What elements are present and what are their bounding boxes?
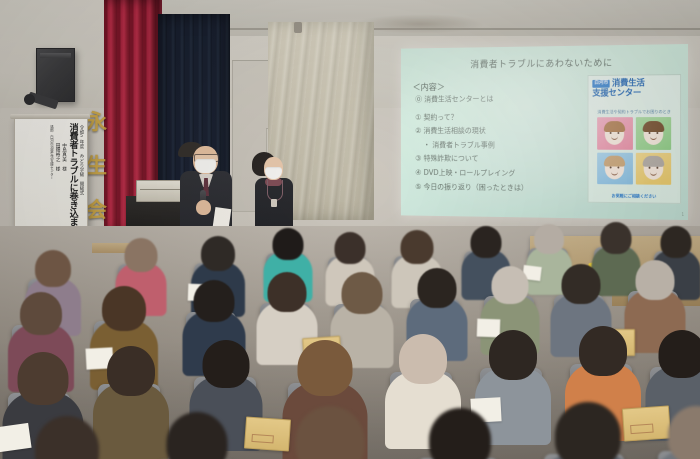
- audience-head: [661, 226, 692, 258]
- hair-shape: [604, 156, 625, 167]
- item-text: DVD上映・ロールプレイング: [424, 168, 516, 177]
- seminar-photo-scene: 永 生 会 令和5年度 みどり学級 開級式 消費者トラブルに巻き込まれないために…: [0, 0, 700, 459]
- hair-shape: [642, 156, 664, 167]
- audience-head: [167, 412, 228, 459]
- audience-member: [158, 412, 236, 459]
- item-text: 消費生活センターとは: [424, 94, 493, 103]
- audience-head: [298, 340, 353, 396]
- face-illustration-icon: [643, 123, 663, 145]
- audience-member: [26, 416, 108, 459]
- speaker-mount-knob: [24, 94, 35, 105]
- face-illustration-icon: [605, 123, 624, 145]
- slide-list-subitem: ・ 消費者トラブル事例: [415, 141, 567, 149]
- slide-page-number: 1: [682, 212, 685, 217]
- item-text: 契約って？: [424, 112, 458, 121]
- slide-list-item: ③ 特殊詐欺について: [415, 155, 567, 163]
- poster-title-line2: 支援センター: [592, 88, 641, 98]
- slide-list-item: ⓪ 消費生活センターとは: [415, 95, 567, 103]
- slide-content-list: ⓪ 消費生活センターとは ① 契約って？ ② 消費生活相談の現状 ・ 消費者トラ…: [415, 95, 567, 199]
- audience-head: [335, 232, 366, 264]
- banner-speaker-name-1: 中島真美 様: [61, 143, 66, 223]
- banner-main-title: 消費者トラブルに巻き込まれないために: [68, 123, 77, 223]
- audience-member: [286, 406, 374, 459]
- audience-head: [492, 266, 529, 304]
- banner-header-text: 令和5年度 みどり学級 開級式: [79, 125, 83, 223]
- poster-face-tile: [597, 117, 632, 149]
- hair-shape: [604, 121, 625, 132]
- gold-character-1: 永: [86, 106, 107, 136]
- slide-content-heading: ＜内容＞: [413, 80, 445, 93]
- audience-head: [201, 236, 235, 271]
- item-marker: ③: [415, 154, 421, 163]
- poster-city-badge: 白河市: [592, 80, 610, 88]
- eye-right: [656, 132, 658, 134]
- eye-left: [648, 132, 650, 134]
- audience-head: [125, 238, 158, 272]
- audience-member: [546, 402, 630, 459]
- smile-shape: [611, 136, 618, 140]
- slide-list-item: ② 消費生活相談の現状: [415, 127, 567, 134]
- audience-head: [296, 406, 365, 459]
- audience-head: [579, 326, 627, 376]
- item-text: 消費生活相談の現状: [424, 126, 486, 135]
- eye-right: [656, 167, 658, 169]
- eye-left: [648, 167, 650, 169]
- audience-head: [418, 268, 457, 308]
- manila-envelope: [244, 416, 291, 451]
- curtain-hook-icon: [294, 22, 302, 33]
- poster-face-tile: [635, 117, 671, 149]
- audience-head: [429, 408, 491, 459]
- audience-head: [489, 330, 537, 380]
- presenter-hand: [196, 200, 211, 215]
- lanyard-icon: [267, 180, 283, 201]
- poster-title: 白河市消費生活 支援センター: [592, 79, 676, 99]
- wall-speaker-icon: [36, 48, 75, 102]
- id-badge: [271, 199, 277, 207]
- audience-head: [668, 406, 700, 459]
- item-marker: ⑤: [415, 182, 421, 191]
- eye-right: [618, 132, 620, 134]
- audience-head: [471, 226, 502, 258]
- audience-head: [401, 230, 434, 264]
- smile-shape: [650, 136, 657, 140]
- slide-title: 消費者トラブルにあわないために: [401, 54, 688, 71]
- gold-character-3: 会: [86, 194, 107, 224]
- slide-list-item: ① 契約って？: [415, 113, 567, 121]
- audience-head: [268, 272, 307, 312]
- poster-face-grid: [597, 117, 671, 185]
- audience-head: [273, 228, 304, 260]
- eye-right: [618, 167, 620, 169]
- projection-screen: 消費者トラブルにあわないために ＜内容＞ ⓪ 消費生活センターとは ① 契約って…: [401, 44, 688, 220]
- audience-member: [100, 346, 162, 459]
- poster-subtitle: 消費生活や契約トラブルでお困りのとき: [592, 109, 676, 115]
- audience-head: [35, 416, 99, 459]
- audience-head: [601, 222, 632, 254]
- slide-list-item: ⑤ 今日の振り返り（困ったときは）: [415, 183, 567, 192]
- consumer-center-poster: 白河市消費生活 支援センター 消費生活や契約トラブルでお困りのとき: [588, 74, 682, 204]
- audience-head: [399, 334, 447, 384]
- face-illustration-icon: [643, 158, 663, 180]
- item-marker: ④: [415, 168, 421, 177]
- item-text: 今日の振り返り（困ったときは）: [424, 182, 529, 192]
- eye-left: [610, 132, 612, 134]
- audience-head: [636, 260, 675, 300]
- face-illustration-icon: [605, 158, 624, 180]
- item-marker: ①: [415, 113, 421, 122]
- eye-left: [610, 167, 612, 169]
- banner-speaker-name-2: 田畑裕之 様: [54, 143, 59, 223]
- face-mask-icon: [195, 159, 216, 173]
- audience-head: [562, 264, 601, 304]
- smile-shape: [611, 171, 618, 175]
- audience-head: [555, 402, 621, 459]
- item-marker: ⓪: [415, 95, 422, 104]
- gold-character-2: 生: [86, 150, 107, 180]
- item-text: 消費者トラブル事例: [432, 140, 494, 149]
- audience-head: [20, 292, 62, 335]
- poster-face-tile: [597, 152, 632, 184]
- slide-list-item: ④ DVD上映・ロールプレイング: [415, 169, 567, 178]
- banner-roller-bar: [10, 114, 90, 119]
- item-marker: ②: [415, 126, 421, 135]
- poster-face-tile: [635, 152, 671, 185]
- ceiling-stain: [355, 14, 485, 34]
- audience-head: [203, 340, 250, 388]
- audience-head: [659, 330, 700, 378]
- audience-head: [102, 286, 146, 331]
- audience-head: [35, 250, 71, 287]
- audience-head: [194, 280, 235, 322]
- poster-footer-text: お気軽にご相談ください: [591, 193, 677, 200]
- audience-head: [18, 352, 69, 405]
- event-banner-sign: 令和5年度 みどり学級 開級式 消費者トラブルに巻き込まれないために 中島真美 …: [14, 118, 88, 228]
- audience-head: [534, 224, 564, 254]
- audience-head: [107, 346, 155, 396]
- male-presenter: [178, 142, 234, 238]
- audience-head: [342, 272, 383, 314]
- audience-member: [660, 406, 700, 459]
- hair-shape: [642, 121, 664, 132]
- audience-member: [420, 408, 500, 459]
- banner-organization: 講師 白河市消費生活支援センター: [49, 125, 52, 223]
- item-marker: ・: [423, 140, 430, 149]
- smile-shape: [650, 171, 657, 176]
- item-text: 特殊詐欺について: [424, 154, 479, 163]
